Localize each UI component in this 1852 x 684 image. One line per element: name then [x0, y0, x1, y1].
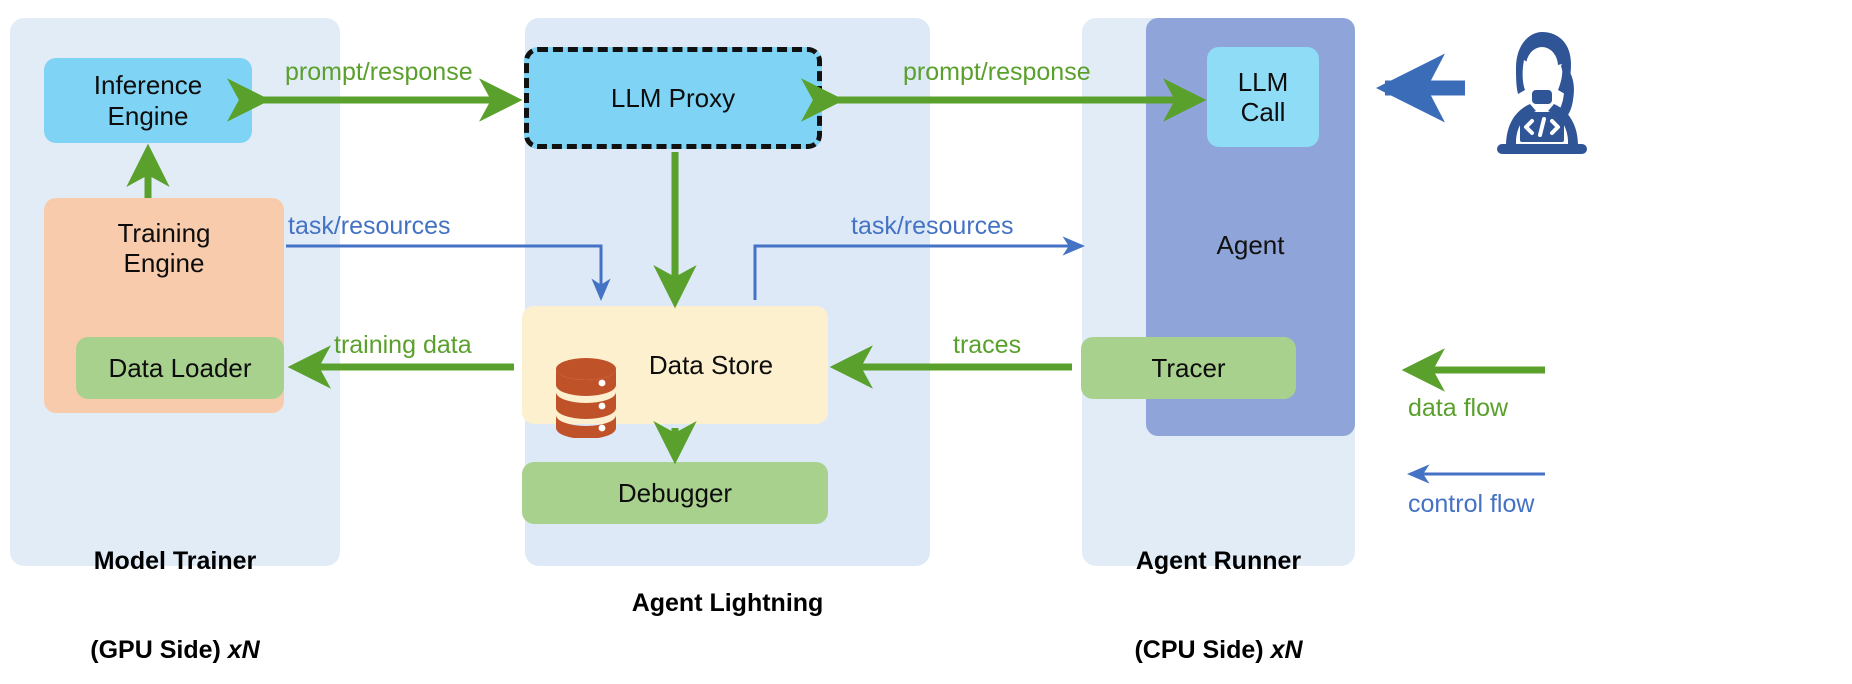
database-icon: [548, 326, 624, 444]
edge-label-prompt-response-left: prompt/response: [285, 58, 473, 87]
caption-agent-runner: Agent Runner (CPU Side) xN: [1082, 488, 1355, 684]
caption-model-trainer-line2: (GPU Side): [90, 636, 228, 664]
agent-label: Agent: [1146, 230, 1355, 261]
developer-icon: [1472, 28, 1602, 161]
caption-model-trainer-line1: Model Trainer: [10, 547, 340, 577]
edge-label-training-data: training data: [334, 331, 472, 360]
caption-agent-runner-line2: (CPU Side): [1134, 636, 1270, 664]
node-tracer[interactable]: Tracer: [1081, 337, 1296, 399]
caption-agent-runner-xn: xN: [1271, 636, 1303, 664]
caption-agent-lightning-line1: Agent Lightning: [525, 589, 930, 619]
caption-agent-runner-line1: Agent Runner: [1082, 547, 1355, 577]
node-data-store-label: Data Store: [649, 350, 773, 380]
caption-model-trainer: Model Trainer (GPU Side) xN: [10, 488, 340, 684]
edge-label-prompt-response-right: prompt/response: [903, 58, 1091, 87]
node-llm-proxy[interactable]: LLM Proxy: [524, 47, 822, 149]
edge-label-task-resources-right: task/resources: [851, 212, 1014, 241]
caption-agent-lightning: Agent Lightning: [525, 530, 930, 678]
node-inference-engine[interactable]: Inference Engine: [44, 58, 252, 143]
legend-control-flow-label: control flow: [1408, 490, 1534, 519]
diagram-canvas: Agent Inference Engine Training Engine D…: [0, 0, 1852, 684]
node-data-loader[interactable]: Data Loader: [76, 337, 284, 399]
caption-model-trainer-xn: xN: [228, 636, 260, 664]
edge-label-traces: traces: [953, 331, 1021, 360]
node-debugger[interactable]: Debugger: [522, 462, 828, 524]
edge-label-task-resources-left: task/resources: [288, 212, 451, 241]
node-llm-call[interactable]: LLM Call: [1207, 47, 1319, 147]
node-data-store[interactable]: Data Store: [522, 306, 828, 424]
legend-data-flow-label: data flow: [1408, 394, 1508, 423]
